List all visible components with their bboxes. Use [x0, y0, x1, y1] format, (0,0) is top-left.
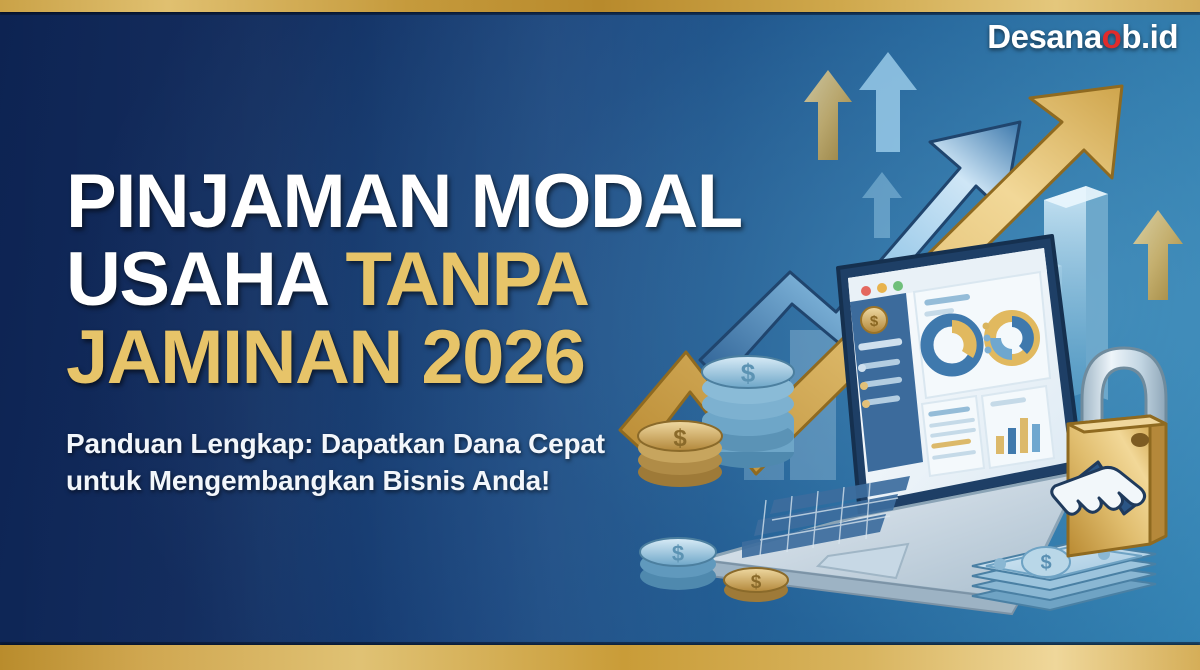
promo-banner: $ — [0, 0, 1200, 670]
svg-text:$: $ — [751, 572, 762, 593]
headline-line-2: USAHA TANPA — [66, 244, 826, 316]
window-dot-red — [861, 286, 871, 296]
headline-line-2-gold: TANPA — [346, 237, 589, 322]
site-logo[interactable]: Desanaob.id — [987, 18, 1178, 56]
svg-text:$: $ — [672, 541, 684, 566]
window-dot-amber — [877, 283, 887, 293]
window-dot-green — [893, 281, 903, 291]
bottom-gold-bar — [0, 645, 1200, 670]
top-bar-divider — [0, 12, 1200, 15]
coin-stack-small: $ — [640, 538, 716, 590]
padlock-shackle — [1082, 348, 1166, 428]
svg-text:$: $ — [1040, 552, 1051, 574]
subtitle-block: Panduan Lengkap: Dapatkan Dana Cepat unt… — [66, 425, 826, 499]
subtitle-line-2: untuk Mengembangkan Bisnis Anda! — [66, 462, 826, 499]
logo-accent-letter: o — [1102, 18, 1122, 55]
headline-line-1: PINJAMAN MODAL — [66, 166, 826, 238]
logo-suffix: b.id — [1121, 18, 1178, 55]
headline-line-3: JAMINAN 2026 — [66, 322, 826, 394]
logo-prefix: Desana — [987, 18, 1101, 55]
headline-line-2-white: USAHA — [66, 237, 346, 322]
top-gold-bar — [0, 0, 1200, 12]
svg-text:$: $ — [870, 313, 879, 330]
headline-block: PINJAMAN MODAL USAHA TANPA JAMINAN 2026 … — [66, 166, 826, 499]
subtitle-line-1: Panduan Lengkap: Dapatkan Dana Cepat — [66, 425, 826, 462]
coin-single-gold: $ — [724, 568, 788, 602]
